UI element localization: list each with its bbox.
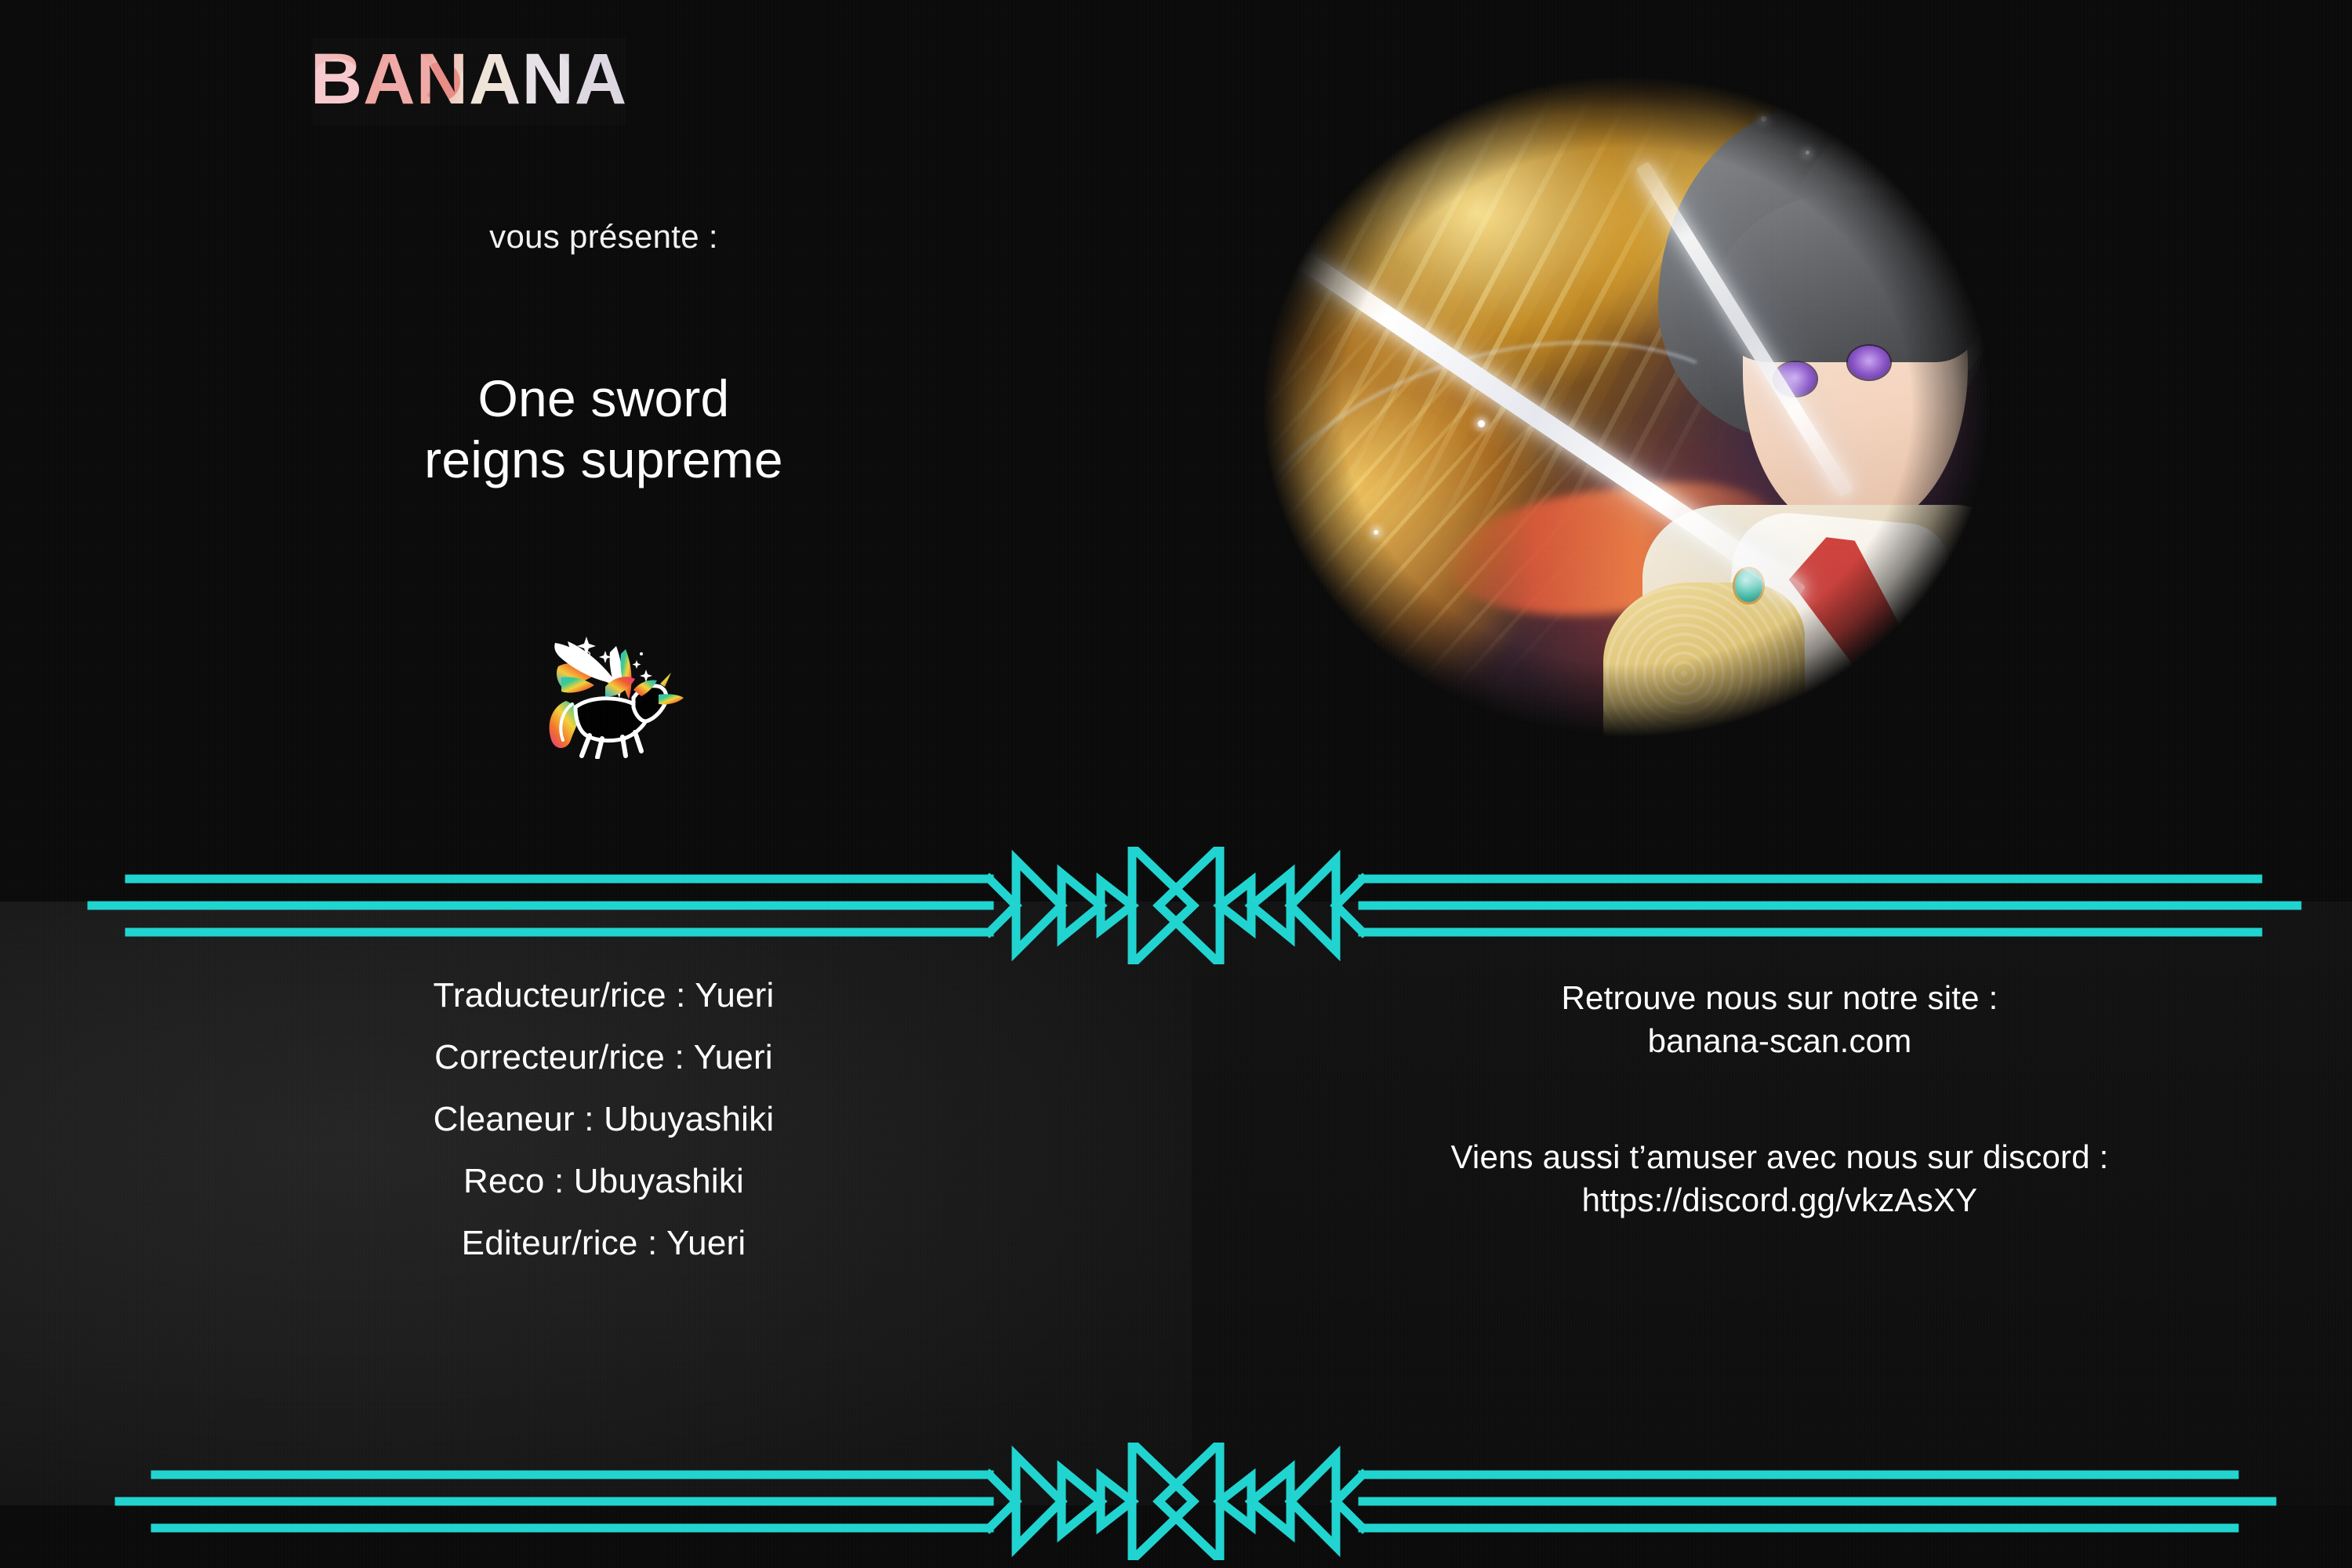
character-eye-right [1848,346,1890,379]
divider-top [0,847,2352,964]
contact-spacer [1207,1063,2352,1135]
hero-artwork-inner [1254,61,1999,751]
credit-reco: Reco : Ubuyashiki [0,1162,1207,1201]
credits-list: Traducteur/rice : Yueri Correcteur/rice … [0,976,1207,1286]
credit-editor: Editeur/rice : Yueri [0,1224,1207,1263]
contact-block: Retrouve nous sur notre site : banana-sc… [1207,976,2352,1222]
hero-artwork [1254,61,1999,751]
discord-label: Viens aussi t’amuser avec nous sur disco… [1207,1135,2352,1178]
pegasus-mascot-icon [541,626,690,759]
logo-knockout-mask: BANANA [312,38,626,125]
credit-cleaner: Cleaneur : Ubuyashiki [0,1100,1207,1139]
site-url-link[interactable]: banana-scan.com [1207,1019,2352,1062]
site-label: Retrouve nous sur notre site : [1207,976,2352,1019]
credit-translator: Traducteur/rice : Yueri [0,976,1207,1015]
series-title-line1: One sword [0,368,1207,430]
series-title-line2: reigns supreme [0,430,1207,491]
discord-url-link[interactable]: https://discord.gg/vkzAsXY [1207,1178,2352,1221]
divider-bottom [0,1443,2352,1560]
hero-sparkle [1478,420,1485,427]
presents-label: vous présente : [0,218,1207,256]
credits-page: BANANA vous présente : One sword reigns … [0,0,2352,1568]
series-title: One sword reigns supreme [0,368,1207,491]
banana-logo: BANANA [312,38,626,125]
credit-proofreader: Correcteur/rice : Yueri [0,1038,1207,1077]
